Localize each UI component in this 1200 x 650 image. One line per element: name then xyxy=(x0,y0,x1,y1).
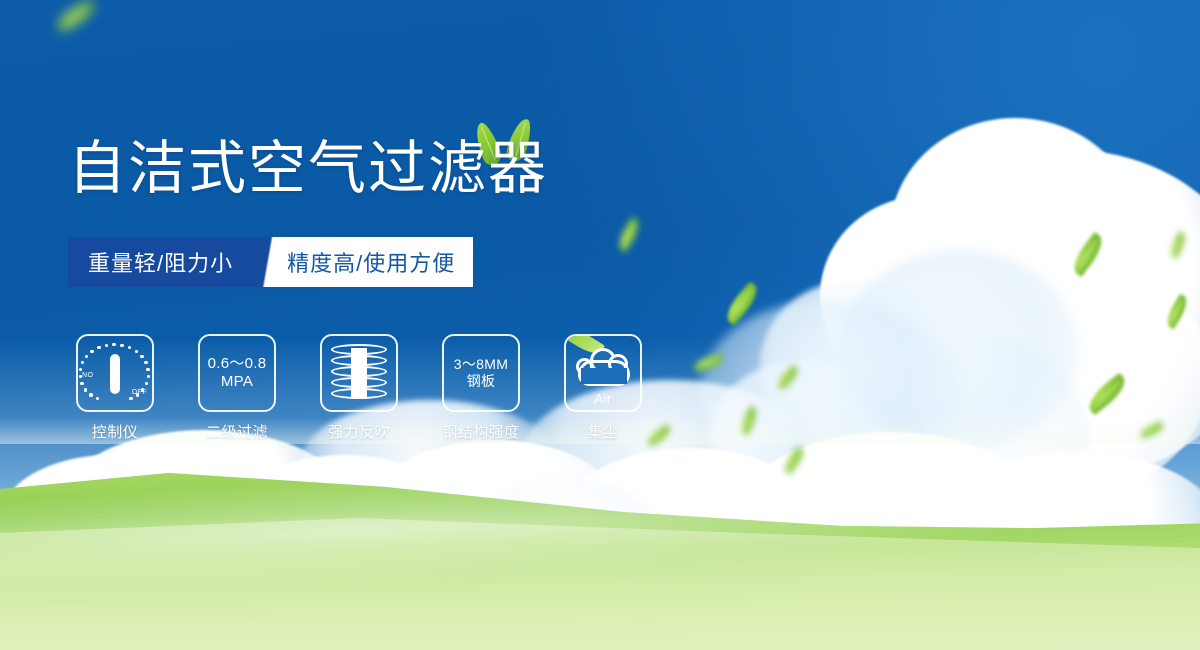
feature-icon-box: NO OFF xyxy=(76,334,154,412)
air-cloud-icon: Air xyxy=(568,338,638,408)
feature-label: 控制仪 xyxy=(76,421,154,442)
subtitle-left-segment: 重量轻/阻力小 xyxy=(68,237,255,287)
steel-plate-text-icon: 3～8MM 钢板 xyxy=(454,356,508,390)
product-hero-banner: 自洁式空气过滤器 重量轻/阻力小 精度高/使用方便 xyxy=(0,0,1200,650)
feature-item-control-dial[interactable]: NO OFF 控制仪 xyxy=(76,334,154,442)
feature-item-steel-strength[interactable]: 3～8MM 钢板 钢结构强度 xyxy=(442,334,520,442)
feature-icon-box: Air xyxy=(564,334,642,412)
air-label: Air xyxy=(568,391,638,406)
feature-icon-box: 3～8MM 钢板 xyxy=(442,334,520,412)
dial-on-label: NO xyxy=(82,372,93,379)
subtitle-bar: 重量轻/阻力小 精度高/使用方便 xyxy=(68,237,473,287)
feature-icon-box: 0.6～0.8 MPA xyxy=(198,334,276,412)
feature-item-blowback[interactable]: 强力反吹 xyxy=(320,334,398,442)
dial-needle-icon xyxy=(110,354,120,394)
subtitle-right-segment: 精度高/使用方便 xyxy=(281,237,473,287)
control-dial-icon: NO OFF xyxy=(82,342,148,404)
feature-label: 强力反吹 xyxy=(320,421,398,442)
feature-list: NO OFF 控制仪 0.6～0.8 MPA 二级过滤 xyxy=(76,334,642,442)
feature-icon-box xyxy=(320,334,398,412)
page-title: 自洁式空气过滤器 xyxy=(68,140,548,198)
feature-label: 集尘 xyxy=(564,421,642,442)
subtitle-divider xyxy=(255,237,281,287)
dial-off-label: OFF xyxy=(132,389,147,396)
feature-label: 二级过滤 xyxy=(198,421,276,442)
feature-label: 钢结构强度 xyxy=(442,421,520,442)
feature-item-secondary-filter[interactable]: 0.6～0.8 MPA 二级过滤 xyxy=(198,334,276,442)
filter-coil-icon xyxy=(331,344,387,402)
feature-item-dust-collection[interactable]: Air 集尘 xyxy=(564,334,642,442)
pressure-text-icon: 0.6～0.8 MPA xyxy=(208,355,267,391)
